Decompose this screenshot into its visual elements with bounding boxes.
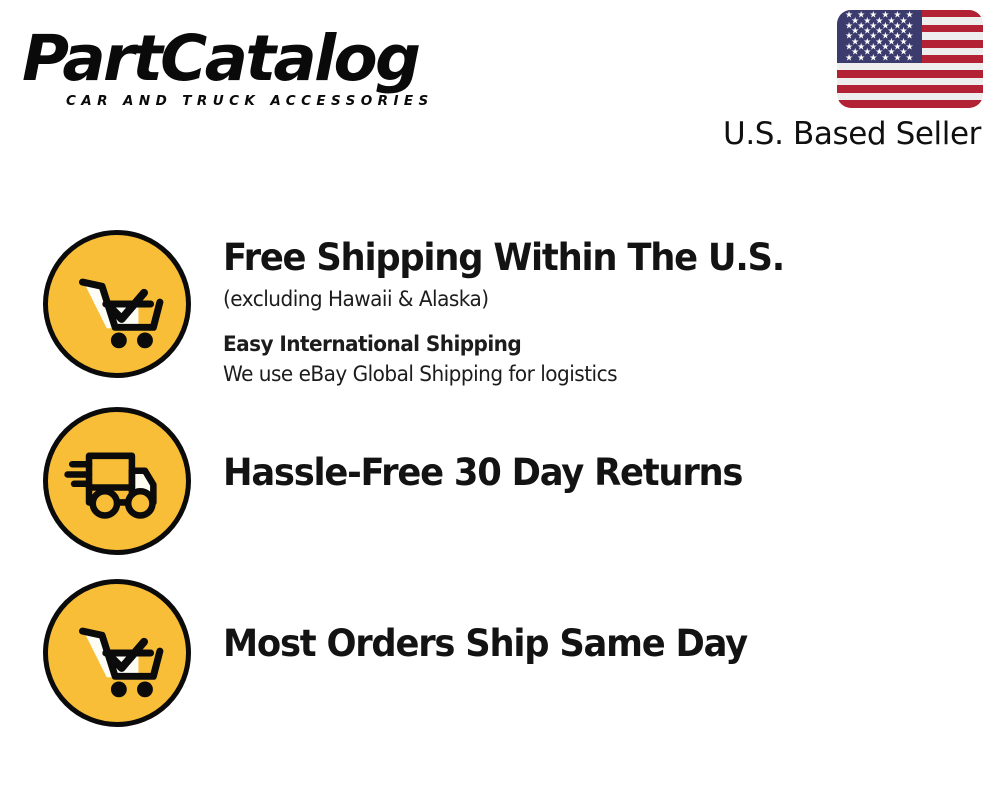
feature-heading: Hassle-Free 30 Day Returns <box>223 451 949 495</box>
flag-canton: ★★★★★★★★★★★★★★★★★★★★★★★★★★★★★★★★★★★★★★★★… <box>837 10 922 63</box>
brand-tagline: CAR AND TRUCK ACCESSORIES <box>66 93 492 109</box>
us-based-seller-badge: ★★★★★★★★★★★★★★★★★★★★★★★★★★★★★★★★★★★★★★★★… <box>713 10 983 152</box>
brand-logo[interactable]: PartCatalog CAR AND TRUCK ACCESSORIES <box>22 26 492 118</box>
feature-heading: Free Shipping Within The U.S. <box>223 236 949 280</box>
feature-subtext-strong: Easy International Shipping <box>223 329 949 359</box>
flag-star: ★ <box>906 53 914 62</box>
shopping-cart-check-icon <box>43 230 191 378</box>
flag-stripe <box>837 100 983 107</box>
feature-text-block: Most Orders Ship Same Day <box>223 622 983 666</box>
us-flag-icon: ★★★★★★★★★★★★★★★★★★★★★★★★★★★★★★★★★★★★★★★★… <box>837 10 983 108</box>
brand-wordmark: PartCatalog <box>22 26 501 92</box>
feature-row: Most Orders Ship Same Day <box>0 579 1000 749</box>
feature-text-block: Free Shipping Within The U.S. (excluding… <box>223 236 983 389</box>
feature-text-block: Hassle-Free 30 Day Returns <box>223 451 983 495</box>
page-header: PartCatalog CAR AND TRUCK ACCESSORIES ★★… <box>0 0 1000 175</box>
feature-subtext: (excluding Hawaii & Alaska) <box>223 284 949 314</box>
flag-stripe <box>837 70 983 77</box>
flag-star: ★ <box>869 53 877 62</box>
shopping-cart-check-icon <box>43 579 191 727</box>
flag-star: ★ <box>881 53 889 62</box>
flag-star: ★ <box>857 53 865 62</box>
feature-heading: Most Orders Ship Same Day <box>223 622 949 666</box>
feature-row: Hassle-Free 30 Day Returns <box>0 407 1000 577</box>
feature-subtext: We use eBay Global Shipping for logistic… <box>223 359 949 389</box>
delivery-truck-icon <box>43 407 191 555</box>
us-based-seller-label: U.S. Based Seller <box>713 116 981 152</box>
flag-star: ★ <box>893 53 901 62</box>
feature-row: Free Shipping Within The U.S. (excluding… <box>0 230 1000 400</box>
flag-stripe <box>837 85 983 92</box>
flag-star: ★ <box>845 53 853 62</box>
